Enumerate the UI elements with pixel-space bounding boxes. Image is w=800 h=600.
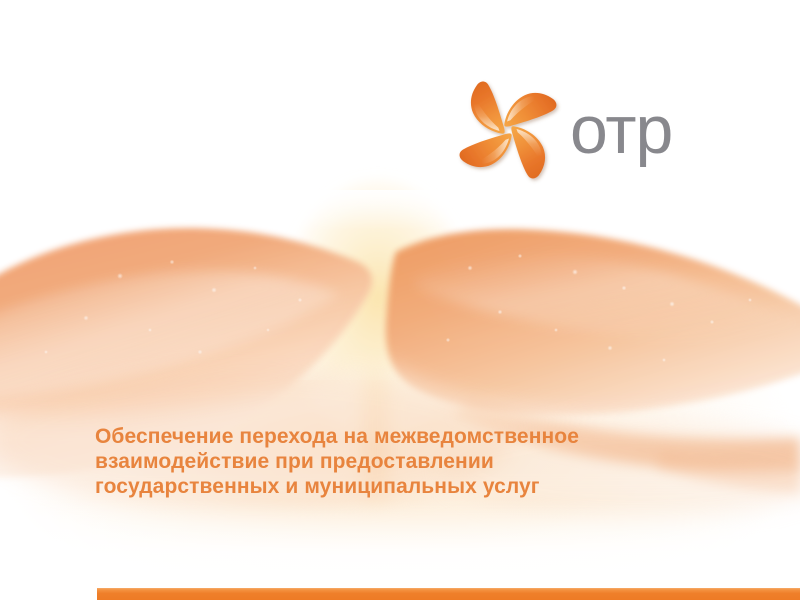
title-line-1: Обеспечение перехода на межведомственное	[95, 424, 745, 449]
otp-wordmark: отр	[570, 76, 672, 184]
otp-logo: отр	[452, 74, 692, 186]
title-line-3: государственных и муниципальных услуг	[95, 474, 745, 499]
title-line-2: взаимодействие при предоставлении	[95, 449, 745, 474]
otp-pinwheel-mark	[452, 74, 564, 186]
slide-canvas: отр Обеспечение перехода на межведомстве…	[0, 0, 800, 600]
slide-title: Обеспечение перехода на межведомственное…	[95, 424, 745, 499]
bottom-accent-bar	[97, 588, 800, 600]
